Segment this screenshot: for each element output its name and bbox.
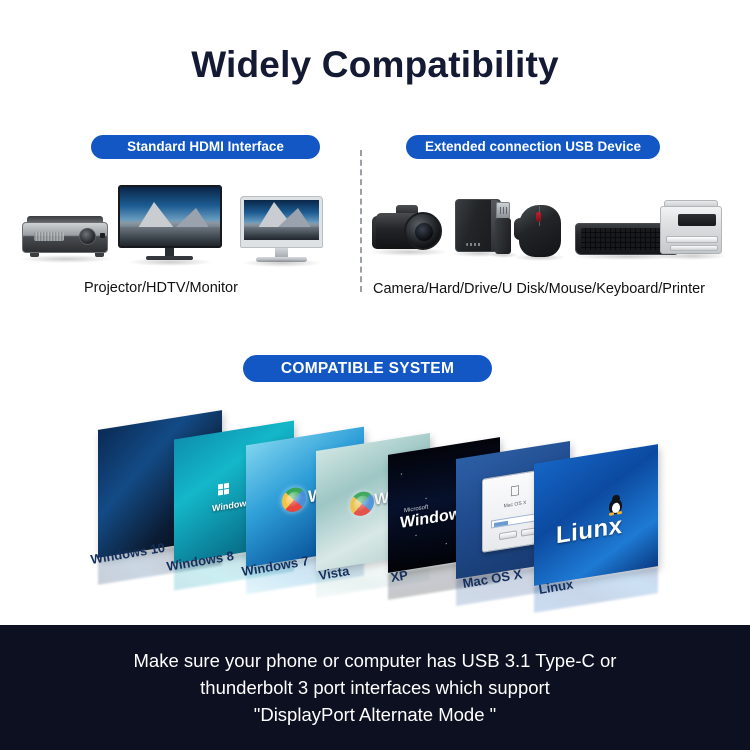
os-panel-cascade: Windows Windows 10 Windows 8 Windows 8 W…	[0, 392, 750, 607]
usb-caption: Camera/Hard/Drive/U Disk/Mouse/Keyboard/…	[373, 281, 705, 297]
page-title: Widely Compatibility	[0, 44, 750, 86]
badge-extended-connection-usb-device: Extended connection USB Device	[406, 135, 660, 159]
hdmi-caption: Projector/HDTV/Monitor	[84, 280, 238, 296]
section-divider	[360, 150, 362, 292]
badge-standard-hdmi-interface: Standard HDMI Interface	[91, 135, 320, 159]
apple-logo-icon: 	[510, 483, 521, 499]
footer-line-3: "DisplayPort Alternate Mode "	[254, 704, 496, 726]
badge-compatible-system: COMPATIBLE SYSTEM	[243, 355, 492, 382]
footer-line-1: Make sure your phone or computer has USB…	[134, 650, 617, 672]
footer-line-2: thunderbolt 3 port interfaces which supp…	[200, 677, 550, 699]
footer-note: Make sure your phone or computer has USB…	[0, 625, 750, 750]
os-label-xp: XP	[390, 567, 410, 585]
os-panel-linux: Liunx	[534, 444, 658, 586]
